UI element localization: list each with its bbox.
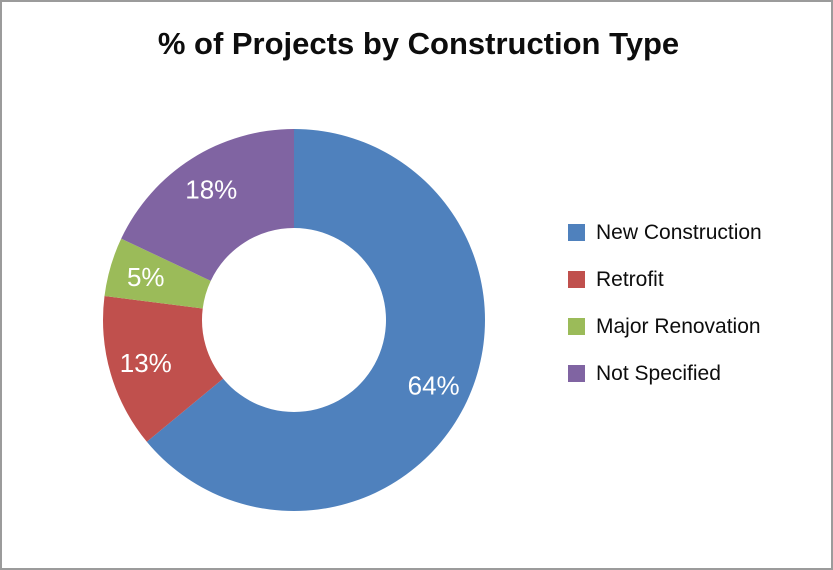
legend-swatch-icon	[568, 271, 585, 288]
legend-item-label: New Construction	[596, 222, 762, 243]
legend-item-label: Retrofit	[596, 269, 664, 290]
legend-swatch-icon	[568, 224, 585, 241]
legend-item-not-specified[interactable]: Not Specified	[568, 350, 828, 397]
legend-item-new-construction[interactable]: New Construction	[568, 209, 828, 256]
chart-frame: % of Projects by Construction Type 64%13…	[0, 0, 833, 570]
donut-slice-label: 13%	[120, 348, 172, 378]
chart-legend: New Construction Retrofit Major Renovati…	[568, 209, 828, 397]
donut-slices	[103, 129, 485, 511]
legend-item-major-renovation[interactable]: Major Renovation	[568, 303, 828, 350]
donut-chart-area: 64%13%5%18%	[2, 2, 562, 570]
legend-item-label: Not Specified	[596, 363, 721, 384]
donut-slice-label: 5%	[127, 262, 165, 292]
legend-item-retrofit[interactable]: Retrofit	[568, 256, 828, 303]
donut-slice-label: 64%	[408, 371, 460, 401]
legend-item-label: Major Renovation	[596, 316, 761, 337]
legend-swatch-icon	[568, 365, 585, 382]
donut-chart-svg: 64%13%5%18%	[2, 2, 562, 570]
donut-slice-label: 18%	[185, 175, 237, 205]
legend-swatch-icon	[568, 318, 585, 335]
